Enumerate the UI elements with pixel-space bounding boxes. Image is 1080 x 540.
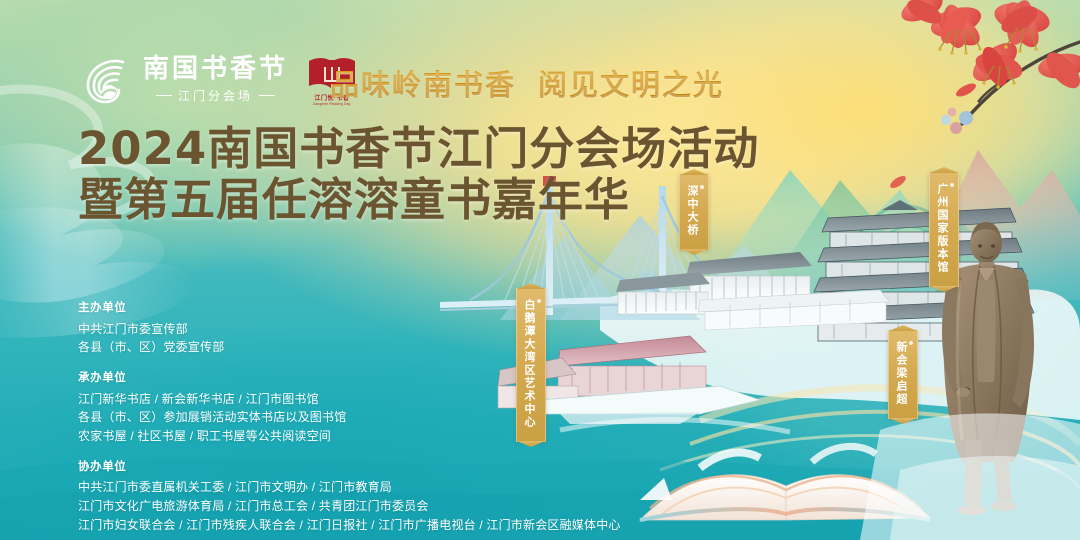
festival-subtitle-text: 江门分会场 — [178, 87, 253, 104]
tag-dot-icon — [700, 185, 704, 189]
title-line-2: 暨第五届任溶溶童书嘉年华 — [78, 175, 759, 226]
slogan-part1: 品味岭南书香 — [330, 68, 516, 102]
concentric-arc-swirl-icon — [76, 52, 134, 108]
landmark-tag-baietan: 白鹅潭大湾区艺术中心 — [516, 288, 546, 442]
landmark-tag-guangzhou: 广州国家版本馆 — [929, 172, 959, 287]
poster-canvas: 南国书香节 江门分会场 — [0, 0, 1080, 540]
festival-subtitle: 江门分会场 — [156, 87, 275, 104]
credit-line: 江门市妇女联合会 / 江门市残疾人联合会 / 江门日报社 / 江门市广播电视台 … — [78, 516, 621, 535]
credit-line: 中共江门市委直属机关工委 / 江门市文明办 / 江门市教育局 — [78, 478, 621, 497]
rule-right — [259, 95, 275, 97]
page-title: 2024南国书香节江门分会场活动 暨第五届任溶溶童书嘉年华 — [78, 124, 759, 226]
nanguo-book-festival-logo: 南国书香节 江门分会场 — [76, 52, 288, 108]
tag-dot-icon — [950, 183, 954, 187]
credit-block-coorganizer: 协办单位 中共江门市委直属机关工委 / 江门市文明办 / 江门市教育局 江门市文… — [78, 459, 621, 535]
logo-row: 南国书香节 江门分会场 — [76, 52, 358, 108]
credit-line: 江门市文化广电旅游体育局 / 江门市总工会 / 共青团江门市委员会 — [78, 497, 621, 516]
landmark-tag-label: 深中大桥 — [686, 185, 699, 237]
landmark-tag-shenzhong: 深中大桥 — [679, 174, 709, 250]
tag-dot-icon — [909, 341, 913, 345]
slogan-part2: 阅见文明之光 — [538, 68, 724, 102]
slogan: 品味岭南书香阅见文明之光 — [330, 62, 724, 104]
landmark-tag-liang-qichao: 新会梁启超 — [888, 330, 918, 419]
tag-dot-icon — [537, 299, 541, 303]
landmark-tag-label: 广州国家版本馆 — [936, 183, 949, 274]
title-line-1: 2024南国书香节江门分会场活动 — [78, 124, 759, 175]
festival-name: 南国书香节 — [143, 56, 288, 83]
rule-left — [156, 95, 172, 97]
landmark-tag-label: 新会梁启超 — [895, 341, 908, 406]
landmark-tag-label: 白鹅潭大湾区艺术中心 — [523, 299, 536, 429]
credit-heading: 协办单位 — [78, 459, 621, 477]
